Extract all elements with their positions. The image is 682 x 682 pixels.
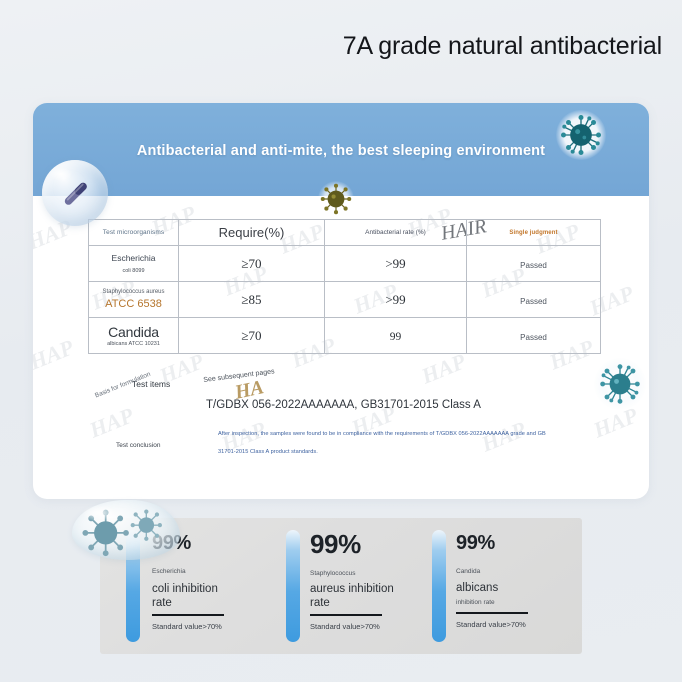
rate-value: >99 [385, 256, 405, 271]
table-row: Candida albicans ATCC 10231 ≥70 99 Passe… [89, 318, 601, 354]
header-label-judgment: Single judgment [470, 230, 597, 236]
organism-name: Staphylococcus aureus [92, 289, 175, 295]
organism-strain: albicans ATCC 10231 [92, 341, 175, 347]
header-label-require: Require(%) [182, 225, 321, 240]
stat-description-line-1: coli inhibition [152, 583, 224, 595]
stat-card-staphylococcus: 99% Staphylococcus aureus inhibition rat… [266, 518, 420, 654]
stat-genus: Escherichia [152, 568, 224, 575]
stat-description-line-2: rate [152, 597, 224, 609]
cell-judgment: Passed [467, 246, 601, 282]
stat-divider [152, 614, 224, 616]
stat-standard-value: Standard value>70% [310, 622, 394, 631]
stat-description-line-2: rate [310, 597, 394, 609]
header-cell-microorganisms: Test microorganisms [89, 220, 179, 246]
judgment-value: Passed [520, 333, 547, 342]
test-conclusion-line-2: 31701-2015 Class A product standards. [218, 449, 318, 455]
header-cell-require: Require(%) [179, 220, 325, 246]
watermark-tile: HAP [86, 402, 138, 443]
standard-reference-line: T/GDBX 056-2022AAAAAAA, GB31701-2015 Cla… [206, 399, 481, 411]
antibacterial-results-table: Test microorganisms Require(%) Antibacte… [88, 219, 601, 354]
cell-organism: Escherichia coli 8099 [89, 246, 179, 282]
stat-description-line-2: inhibition rate [456, 599, 528, 606]
certificate-banner: Antibacterial and anti-mite, the best sl… [33, 103, 649, 196]
cell-organism: Staphylococcus aureus ATCC 6538 [89, 282, 179, 318]
cell-require: ≥70 [179, 246, 325, 282]
header-label-rate: Antibacterial rate (%) [328, 229, 463, 236]
watermark-tile: HAP [33, 334, 77, 375]
require-value: ≥70 [241, 256, 261, 271]
stat-standard-value: Standard value>70% [152, 622, 224, 631]
watermark-tile: HAP [33, 214, 75, 255]
table-row: Escherichia coli 8099 ≥70 >99 Passed [89, 246, 601, 282]
cell-require: ≥85 [179, 282, 325, 318]
cell-rate: >99 [325, 246, 467, 282]
certificate-card: Antibacterial and anti-mite, the best sl… [33, 103, 649, 499]
progress-bar-indicator [286, 530, 300, 642]
cell-require: ≥70 [179, 318, 325, 354]
stat-genus: Staphylococcus [310, 570, 394, 577]
stat-divider [456, 612, 528, 614]
test-conclusion-line-1: After inspection, the samples were found… [218, 431, 546, 437]
watermark-tile: HAP [590, 402, 642, 443]
judgment-value: Passed [520, 261, 547, 270]
judgment-value: Passed [520, 297, 547, 306]
require-value: ≥85 [241, 292, 261, 307]
rate-value: 99 [390, 331, 402, 343]
watermark-tile: HAP [478, 416, 530, 457]
page-title: 7A grade natural antibacterial [343, 32, 662, 61]
table-row: Staphylococcus aureus ATCC 6538 ≥85 >99 … [89, 282, 601, 318]
stat-genus: Candida [456, 568, 528, 575]
stat-standard-value: Standard value>70% [456, 620, 528, 629]
header-cell-judgment: Single judgment [467, 220, 601, 246]
stat-percent: 99% [310, 529, 394, 560]
stat-card-candida: 99% Candida albicans inhibition rate Sta… [420, 518, 582, 654]
cell-organism: Candida albicans ATCC 10231 [89, 318, 179, 354]
cell-judgment: Passed [467, 318, 601, 354]
organism-name: Escherichia [92, 253, 175, 263]
watermark-tile: HAP [418, 348, 470, 389]
progress-bar-indicator [432, 530, 446, 642]
stat-description-line-1: albicans [456, 582, 528, 594]
rate-value: >99 [385, 292, 405, 307]
organism-strain: ATCC 6538 [92, 298, 175, 310]
organism-name: Candida [92, 324, 175, 340]
stat-percent: 99% [456, 532, 528, 555]
require-value: ≥70 [241, 328, 261, 343]
stat-divider [310, 614, 382, 616]
virus-cluster-bubble [72, 500, 180, 560]
stat-description-line-1: aureus inhibition [310, 583, 394, 595]
header-cell-rate: Antibacterial rate (%) [325, 220, 467, 246]
test-conclusion-label: Test conclusion [116, 442, 160, 449]
cell-judgment: Passed [467, 282, 601, 318]
cell-rate: 99 [325, 318, 467, 354]
table-header-row: Test microorganisms Require(%) Antibacte… [89, 220, 601, 246]
banner-title: Antibacterial and anti-mite, the best sl… [33, 143, 649, 159]
organism-strain: coli 8099 [92, 268, 175, 274]
header-label-microorganisms: Test microorganisms [92, 229, 175, 236]
cell-rate: >99 [325, 282, 467, 318]
